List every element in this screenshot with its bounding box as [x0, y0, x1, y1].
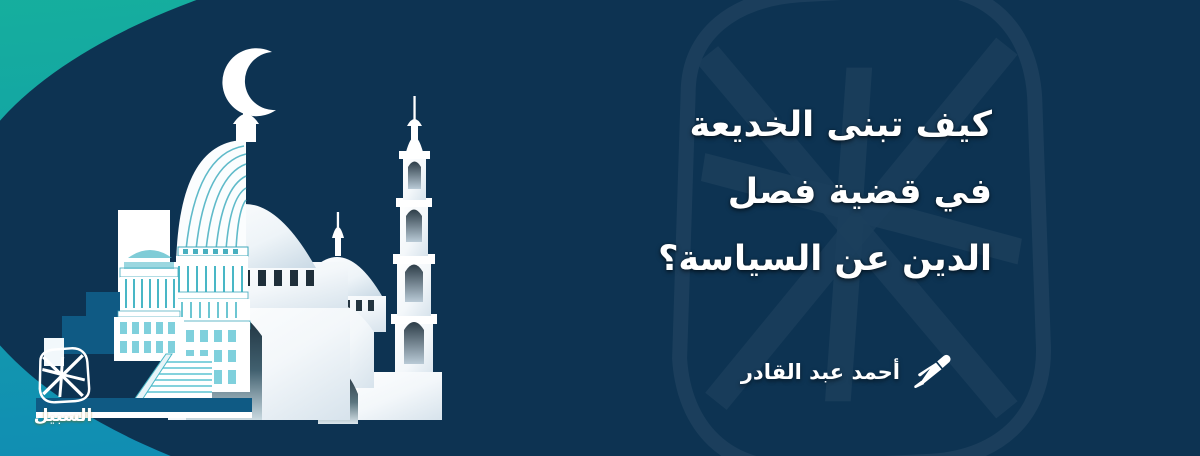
alsabeel-logo-mark-icon — [34, 346, 92, 404]
author-byline: أحمد عبد القادر — [741, 354, 952, 390]
headline-line-1: كيف تبنى الخديعة — [472, 92, 992, 159]
fountain-pen-nib-icon — [912, 354, 952, 390]
brand-logo[interactable]: السبيل — [22, 346, 104, 432]
headline-line-3: الدين عن السياسة؟ — [472, 226, 992, 293]
brand-name: السبيل — [34, 406, 93, 426]
author-name: أحمد عبد القادر — [741, 360, 900, 384]
article-banner: كيف تبنى الخديعة في قضية فصل الدين عن ال… — [0, 0, 1200, 456]
page-title: كيف تبنى الخديعة في قضية فصل الدين عن ال… — [472, 92, 992, 293]
headline-line-2: في قضية فصل — [472, 159, 992, 226]
